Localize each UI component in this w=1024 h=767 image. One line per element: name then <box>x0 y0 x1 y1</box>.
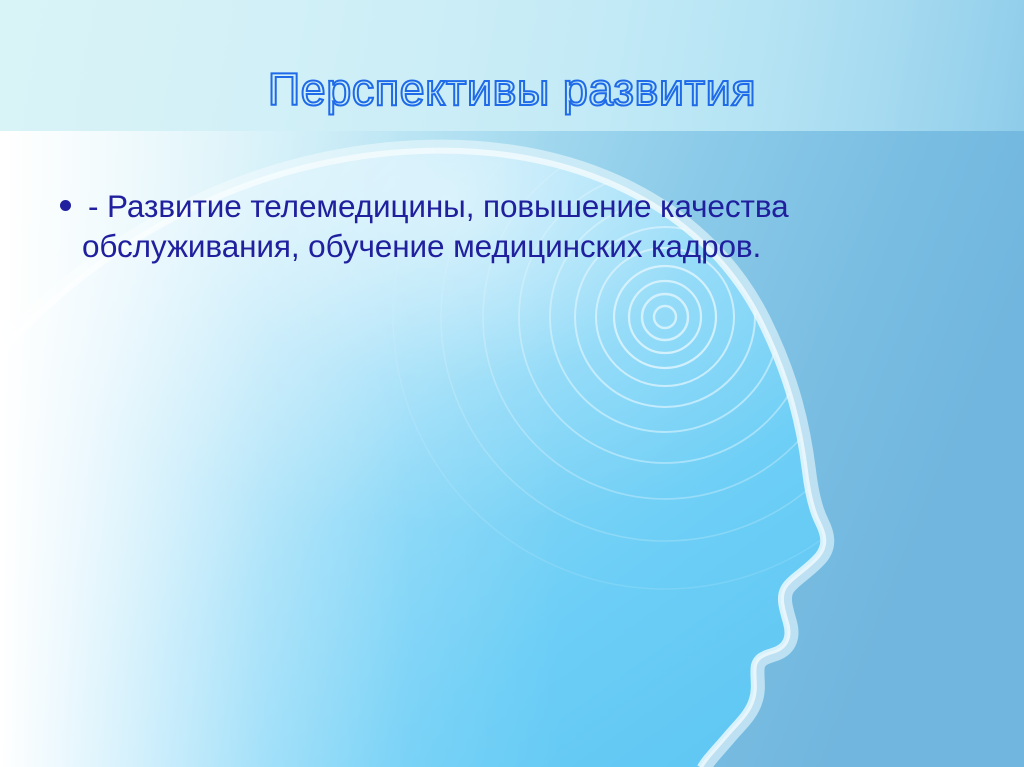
slide-body: - Развитие телемедицины, повышение качес… <box>48 186 948 266</box>
list-item: - Развитие телемедицины, повышение качес… <box>48 186 948 266</box>
bullet-text: - Развитие телемедицины, повышение качес… <box>82 186 948 266</box>
slide: Перспективы развития - Развитие телемеди… <box>0 0 1024 767</box>
bullet-dot-icon <box>48 186 82 211</box>
